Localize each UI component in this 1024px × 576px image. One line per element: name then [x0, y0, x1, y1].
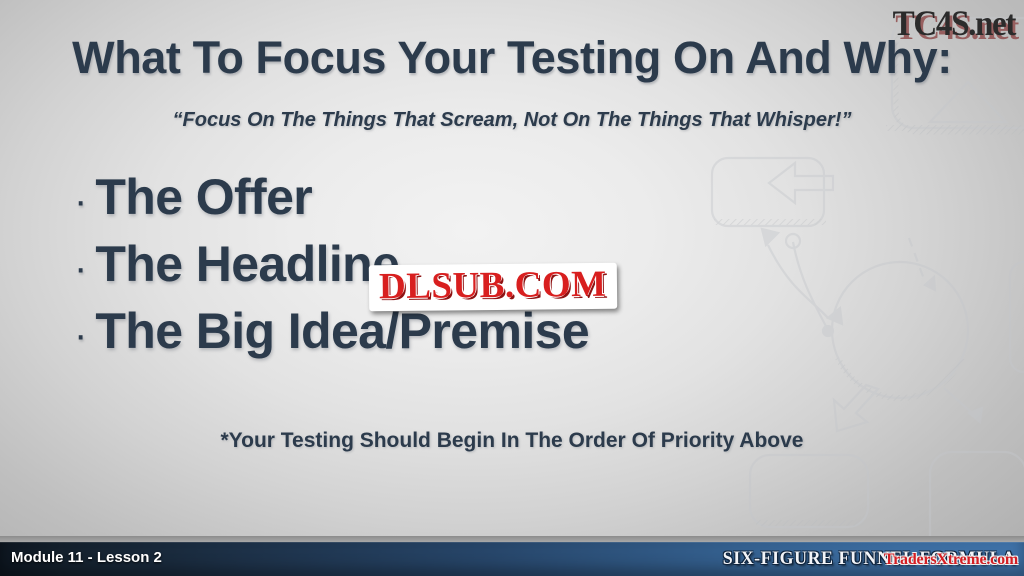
- bullet-label: The Big Idea/Premise: [95, 302, 589, 360]
- list-item: · The Big Idea/Premise: [74, 302, 774, 369]
- bullet-marker-icon: ·: [74, 181, 87, 221]
- slide-subtitle-quote: “Focus On The Things That Scream, Not On…: [0, 109, 1024, 132]
- bullet-marker-icon: ·: [74, 315, 87, 355]
- slide-canvas: What To Focus Your Testing On And Why: “…: [0, 0, 1024, 576]
- tc4s-watermark: TC4S.net: [893, 2, 1015, 44]
- bullet-marker-icon: ·: [74, 248, 87, 288]
- tradersxtreme-watermark: TradersXtreme.com: [884, 551, 1018, 569]
- footer-bar: Module 11 - Lesson 2 SIX-FIGURE FUNNEL F…: [0, 540, 1024, 576]
- slide-footnote: *Your Testing Should Begin In The Order …: [0, 429, 1024, 453]
- bullet-label: The Headline: [95, 235, 399, 293]
- slide-title: What To Focus Your Testing On And Why:: [0, 32, 1024, 84]
- module-lesson-label: Module 11 - Lesson 2: [11, 549, 162, 566]
- bullet-label: The Offer: [95, 168, 312, 226]
- dlsub-watermark: DLSUB.COM: [369, 263, 617, 311]
- list-item: · The Offer: [74, 168, 774, 235]
